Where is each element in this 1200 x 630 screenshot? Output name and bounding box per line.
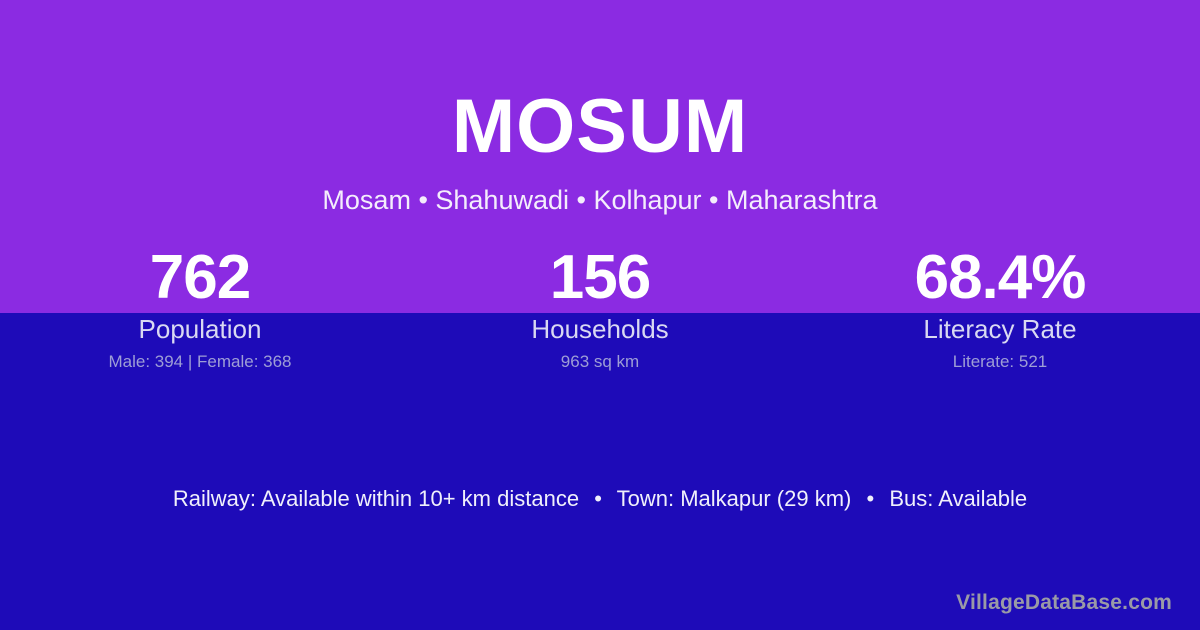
- stat-value: 68.4%: [800, 243, 1200, 313]
- bullet-separator-icon: •: [585, 484, 611, 514]
- transport-info-line: Railway: Available within 10+ km distanc…: [0, 484, 1200, 514]
- stat-sublabel: Literate: 521: [800, 351, 1200, 372]
- stat-value: 762: [0, 243, 400, 313]
- stat-value: 156: [400, 243, 800, 313]
- stat-households: 156 Households 963 sq km: [400, 243, 800, 372]
- stat-population: 762 Population Male: 394 | Female: 368: [0, 243, 400, 372]
- stat-label: Literacy Rate: [800, 314, 1200, 345]
- bullet-separator-icon: •: [857, 484, 883, 514]
- town-info: Town: Malkapur (29 km): [617, 486, 852, 511]
- stats-row: 762 Population Male: 394 | Female: 368 1…: [0, 243, 1200, 372]
- breadcrumb: Mosam • Shahuwadi • Kolhapur • Maharasht…: [0, 183, 1200, 217]
- stat-label: Population: [0, 314, 400, 345]
- stat-sublabel: Male: 394 | Female: 368: [0, 351, 400, 372]
- site-brand-watermark: VillageDataBase.com: [956, 589, 1172, 616]
- railway-info: Railway: Available within 10+ km distanc…: [173, 486, 579, 511]
- stat-sublabel: 963 sq km: [400, 351, 800, 372]
- page-title: MOSUM: [0, 84, 1200, 170]
- card-content: MOSUM Mosam • Shahuwadi • Kolhapur • Mah…: [0, 0, 1200, 630]
- stat-label: Households: [400, 314, 800, 345]
- bus-info: Bus: Available: [889, 486, 1027, 511]
- village-info-card: MOSUM Mosam • Shahuwadi • Kolhapur • Mah…: [0, 0, 1200, 630]
- stat-literacy-rate: 68.4% Literacy Rate Literate: 521: [800, 243, 1200, 372]
